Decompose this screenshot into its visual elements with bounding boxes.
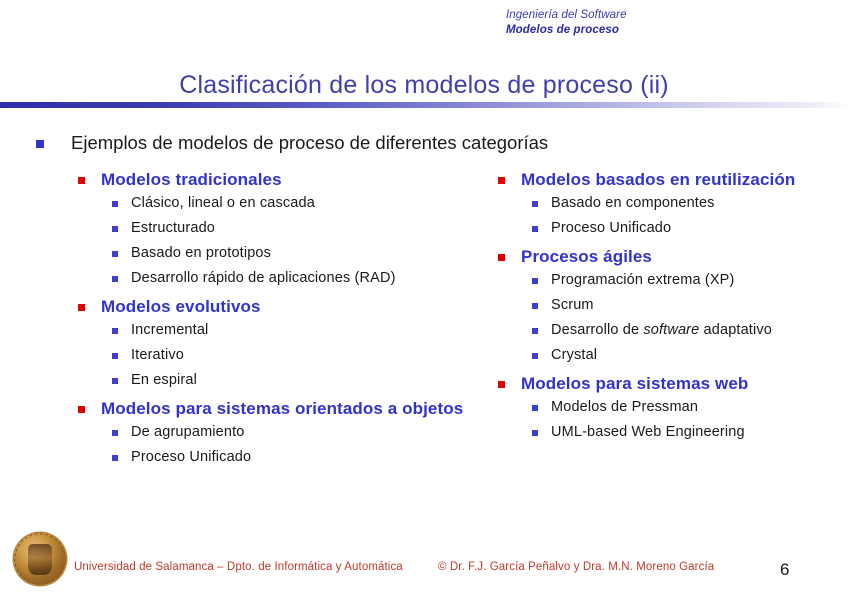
page-title: Clasificación de los modelos de proceso …	[0, 71, 848, 100]
list-item-label: UML-based Web Engineering	[551, 423, 745, 441]
sub-item-list: IncrementalIterativoEn espiral	[78, 321, 478, 389]
square-bullet-icon	[532, 303, 538, 309]
content-columns: Modelos tradicionalesClásico, lineal o e…	[0, 169, 848, 529]
list-item-label: Iterativo	[131, 346, 184, 364]
list-item-label: Programación extrema (XP)	[551, 271, 734, 289]
square-bullet-icon	[36, 140, 44, 148]
slide-header: Ingeniería del Software Modelos de proce…	[506, 8, 826, 38]
square-bullet-icon	[498, 177, 505, 184]
footer-authors: © Dr. F.J. García Peñalvo y Dra. M.N. Mo…	[438, 561, 714, 573]
list-item: UML-based Web Engineering	[498, 423, 843, 441]
list-item: Incremental	[78, 321, 478, 339]
group-heading-label: Modelos para sistemas orientados a objet…	[101, 398, 463, 420]
list-item-label: Proceso Unificado	[551, 219, 671, 237]
square-bullet-icon	[78, 304, 85, 311]
group-heading-modelos-para-sistemas-web: Modelos para sistemas web	[498, 373, 843, 395]
group-heading-modelos-para-sistemas-orientados-a-objet: Modelos para sistemas orientados a objet…	[78, 398, 478, 420]
list-item-label: Modelos de Pressman	[551, 398, 698, 416]
slide: Ingeniería del Software Modelos de proce…	[0, 0, 848, 599]
university-seal-icon	[14, 533, 66, 585]
bullet-group: Modelos para sistemas webModelos de Pres…	[498, 373, 843, 441]
list-item: Iterativo	[78, 346, 478, 364]
bullet-group: Modelos tradicionalesClásico, lineal o e…	[78, 169, 478, 287]
list-item: Scrum	[498, 296, 843, 314]
group-heading-label: Modelos para sistemas web	[521, 373, 748, 395]
square-bullet-icon	[498, 254, 505, 261]
column-left: Modelos tradicionalesClásico, lineal o e…	[78, 169, 478, 475]
square-bullet-icon	[112, 328, 118, 334]
column-right: Modelos basados en reutilizaciónBasado e…	[498, 169, 843, 450]
list-item: Estructurado	[78, 219, 478, 237]
list-item: Clásico, lineal o en cascada	[78, 194, 478, 212]
list-item-label: En espiral	[131, 371, 197, 389]
list-item-label: Scrum	[551, 296, 594, 314]
list-item: Crystal	[498, 346, 843, 364]
square-bullet-icon	[78, 177, 85, 184]
square-bullet-icon	[532, 353, 538, 359]
footer-institution: Universidad de Salamanca – Dpto. de Info…	[74, 561, 403, 573]
square-bullet-icon	[112, 226, 118, 232]
title-divider	[0, 102, 848, 108]
group-heading-label: Modelos tradicionales	[101, 169, 282, 191]
list-item-label: Clásico, lineal o en cascada	[131, 194, 315, 212]
square-bullet-icon	[112, 276, 118, 282]
bullet-group: Modelos basados en reutilizaciónBasado e…	[498, 169, 843, 237]
bullet-group: Procesos ágilesProgramación extrema (XP)…	[498, 246, 843, 364]
list-item: Basado en prototipos	[78, 244, 478, 262]
square-bullet-icon	[498, 381, 505, 388]
list-item-label: Basado en componentes	[551, 194, 715, 212]
header-course: Ingeniería del Software	[506, 8, 826, 23]
list-item: En espiral	[78, 371, 478, 389]
square-bullet-icon	[112, 430, 118, 436]
square-bullet-icon	[112, 251, 118, 257]
list-item: Modelos de Pressman	[498, 398, 843, 416]
list-item-label: Desarrollo de software adaptativo	[551, 321, 772, 339]
group-heading-modelos-basados-en-reutilizacion: Modelos basados en reutilización	[498, 169, 843, 191]
group-heading-modelos-evolutivos: Modelos evolutivos	[78, 296, 478, 318]
square-bullet-icon	[532, 430, 538, 436]
list-item-label: Basado en prototipos	[131, 244, 271, 262]
list-item: Basado en componentes	[498, 194, 843, 212]
sub-item-list: Basado en componentesProceso Unificado	[498, 194, 843, 237]
list-item: Desarrollo de software adaptativo	[498, 321, 843, 339]
square-bullet-icon	[112, 455, 118, 461]
group-heading-procesos-agiles: Procesos ágiles	[498, 246, 843, 268]
list-item-label: Desarrollo rápido de aplicaciones (RAD)	[131, 269, 396, 287]
group-heading-label: Modelos basados en reutilización	[521, 169, 795, 191]
list-item-label: Incremental	[131, 321, 208, 339]
list-item: De agrupamiento	[78, 423, 478, 441]
intro-bullet-row: Ejemplos de modelos de proceso de difere…	[36, 131, 548, 155]
square-bullet-icon	[532, 201, 538, 207]
header-topic: Modelos de proceso	[506, 23, 826, 38]
square-bullet-icon	[78, 406, 85, 413]
square-bullet-icon	[112, 201, 118, 207]
bullet-group: Modelos evolutivosIncrementalIterativoEn…	[78, 296, 478, 389]
square-bullet-icon	[532, 405, 538, 411]
square-bullet-icon	[532, 278, 538, 284]
slide-number: 6	[780, 560, 789, 580]
list-item-label: De agrupamiento	[131, 423, 245, 441]
group-heading-label: Procesos ágiles	[521, 246, 652, 268]
list-item: Desarrollo rápido de aplicaciones (RAD)	[78, 269, 478, 287]
square-bullet-icon	[112, 353, 118, 359]
list-item-label: Estructurado	[131, 219, 215, 237]
list-item: Proceso Unificado	[78, 448, 478, 466]
square-bullet-icon	[532, 226, 538, 232]
list-item-label: Crystal	[551, 346, 597, 364]
group-heading-modelos-tradicionales: Modelos tradicionales	[78, 169, 478, 191]
sub-item-list: Modelos de PressmanUML-based Web Enginee…	[498, 398, 843, 441]
list-item: Programación extrema (XP)	[498, 271, 843, 289]
bullet-group: Modelos para sistemas orientados a objet…	[78, 398, 478, 466]
square-bullet-icon	[532, 328, 538, 334]
list-item-label: Proceso Unificado	[131, 448, 251, 466]
sub-item-list: Programación extrema (XP)ScrumDesarrollo…	[498, 271, 843, 364]
square-bullet-icon	[112, 378, 118, 384]
list-item: Proceso Unificado	[498, 219, 843, 237]
sub-item-list: Clásico, lineal o en cascadaEstructurado…	[78, 194, 478, 287]
group-heading-label: Modelos evolutivos	[101, 296, 261, 318]
intro-text: Ejemplos de modelos de proceso de difere…	[71, 131, 548, 155]
sub-item-list: De agrupamientoProceso Unificado	[78, 423, 478, 466]
